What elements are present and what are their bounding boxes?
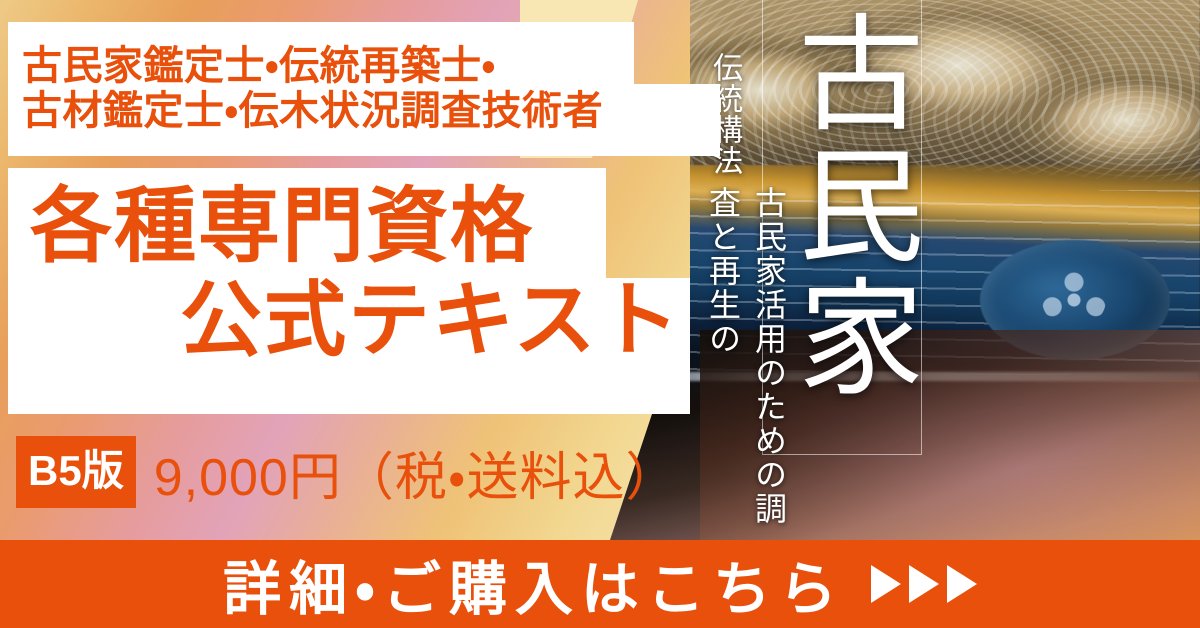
cta-bar[interactable]: 詳細・ご購入はこちら	[0, 540, 1200, 628]
qualification-line-1: 古民家鑑定士・伝統再築士・	[22, 44, 720, 89]
triangle-right-icon	[909, 565, 939, 603]
cta-label: 詳細・ご購入はこちら	[223, 542, 845, 626]
qualification-line-2: 古材鑑定士・伝木状況調査技術者	[22, 89, 720, 134]
triangle-right-icon	[947, 565, 977, 603]
qualifications-card: 古民家鑑定士・伝統再築士・ 古材鑑定士・伝木状況調査技術者	[8, 22, 720, 156]
headline-card: 各種専門資格 公式テキスト	[8, 168, 690, 414]
price-amount: 9,000円（税・送料込）	[154, 435, 679, 510]
cta-arrow-group	[871, 565, 977, 603]
size-badge: B5版	[16, 436, 136, 508]
price-row: B5版 9,000円（税・送料込）	[0, 424, 700, 520]
headline-line-1: 各種専門資格	[30, 184, 534, 270]
triangle-right-icon	[871, 565, 901, 603]
promo-banner: 伝統構法 古民家活用のための調査と再生の 古民家 古民家鑑定士・伝統再築士・ 古…	[0, 0, 1200, 628]
book-title: 古民家	[778, 8, 919, 404]
headline-line-2: 公式テキスト	[180, 278, 682, 364]
family-crest-icon	[1042, 272, 1106, 328]
